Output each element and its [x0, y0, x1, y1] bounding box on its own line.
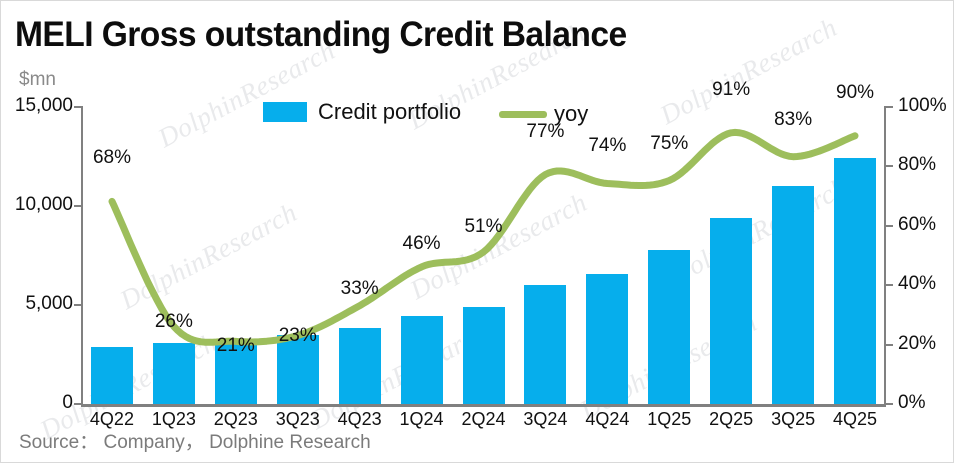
y2-axis-tick-mark: [886, 403, 893, 405]
source-note: Source： Company， Dolphine Research: [19, 427, 371, 454]
y-axis-tick-5000: 5,000: [7, 293, 73, 315]
y-axis-unit-label: $mn: [19, 69, 56, 91]
y-axis-tick-mark: [74, 106, 81, 108]
data-label-2Q25: 91%: [701, 79, 761, 101]
x-axis-label-2Q25: 2Q25: [696, 409, 766, 430]
x-axis-label-2Q24: 2Q24: [449, 409, 519, 430]
bar-4Q24: [586, 274, 628, 404]
y-axis-tick-15000: 15,000: [7, 95, 73, 117]
data-label-1Q23: 26%: [144, 311, 204, 333]
x-axis-label-4Q24: 4Q24: [572, 409, 642, 430]
y-axis-tick-mark: [74, 304, 81, 306]
data-label-2Q23: 21%: [206, 335, 266, 357]
legend-line-swatch-icon: [499, 111, 547, 118]
bar-4Q23: [339, 328, 381, 404]
bar-3Q24: [524, 285, 566, 404]
y2-axis-tick-20: 20%: [898, 333, 936, 355]
bar-1Q23: [153, 343, 195, 404]
x-axis-line: [81, 404, 886, 407]
bar-1Q24: [401, 316, 443, 404]
legend-credit-portfolio: Credit portfolio: [263, 99, 461, 125]
y2-axis-tick-mark: [886, 344, 893, 346]
data-label-3Q23: 23%: [268, 325, 328, 347]
y-axis-tick-0: 0: [7, 392, 73, 414]
x-axis-label-1Q24: 1Q24: [387, 409, 457, 430]
data-label-4Q22: 68%: [82, 147, 142, 169]
y2-axis-tick-80: 80%: [898, 154, 936, 176]
data-label-3Q25: 83%: [763, 109, 823, 131]
y2-axis-tick-100: 100%: [898, 95, 947, 117]
data-label-4Q25: 90%: [825, 82, 885, 104]
chart-page: DolphinResearch DolphinResearch DolphinR…: [0, 0, 954, 463]
legend-line-label: yoy: [554, 101, 588, 127]
y2-axis-tick-mark: [886, 284, 893, 286]
bar-4Q22: [91, 347, 133, 404]
bar-2Q24: [463, 307, 505, 404]
data-label-2Q24: 51%: [454, 216, 514, 238]
bar-3Q25: [772, 186, 814, 404]
bar-4Q25: [834, 158, 876, 404]
legend-bar-swatch-icon: [263, 102, 307, 122]
data-label-1Q24: 46%: [392, 233, 452, 255]
data-label-1Q25: 75%: [639, 133, 699, 155]
y-axis-tick-mark: [74, 403, 81, 405]
x-axis-label-4Q25: 4Q25: [820, 409, 890, 430]
x-axis-label-1Q25: 1Q25: [634, 409, 704, 430]
plot-area: [81, 106, 886, 404]
x-axis-label-3Q24: 3Q24: [510, 409, 580, 430]
y2-axis-tick-mark: [886, 106, 893, 108]
y2-axis-line: [884, 106, 886, 404]
data-label-4Q23: 33%: [330, 278, 390, 300]
y2-axis-tick-mark: [886, 165, 893, 167]
legend-yoy: yoy: [499, 101, 588, 127]
bar-2Q25: [710, 218, 752, 404]
legend-bar-label: Credit portfolio: [318, 99, 461, 125]
x-axis-label-3Q25: 3Q25: [758, 409, 828, 430]
bar-1Q25: [648, 250, 690, 404]
y-axis-tick-10000: 10,000: [7, 194, 73, 216]
y2-axis-tick-40: 40%: [898, 273, 936, 295]
y-axis-tick-mark: [74, 205, 81, 207]
y2-axis-tick-0: 0%: [898, 392, 925, 414]
chart-title: MELI Gross outstanding Credit Balance: [15, 15, 627, 55]
y2-axis-tick-60: 60%: [898, 214, 936, 236]
data-label-4Q24: 74%: [577, 135, 637, 157]
y2-axis-tick-mark: [886, 225, 893, 227]
